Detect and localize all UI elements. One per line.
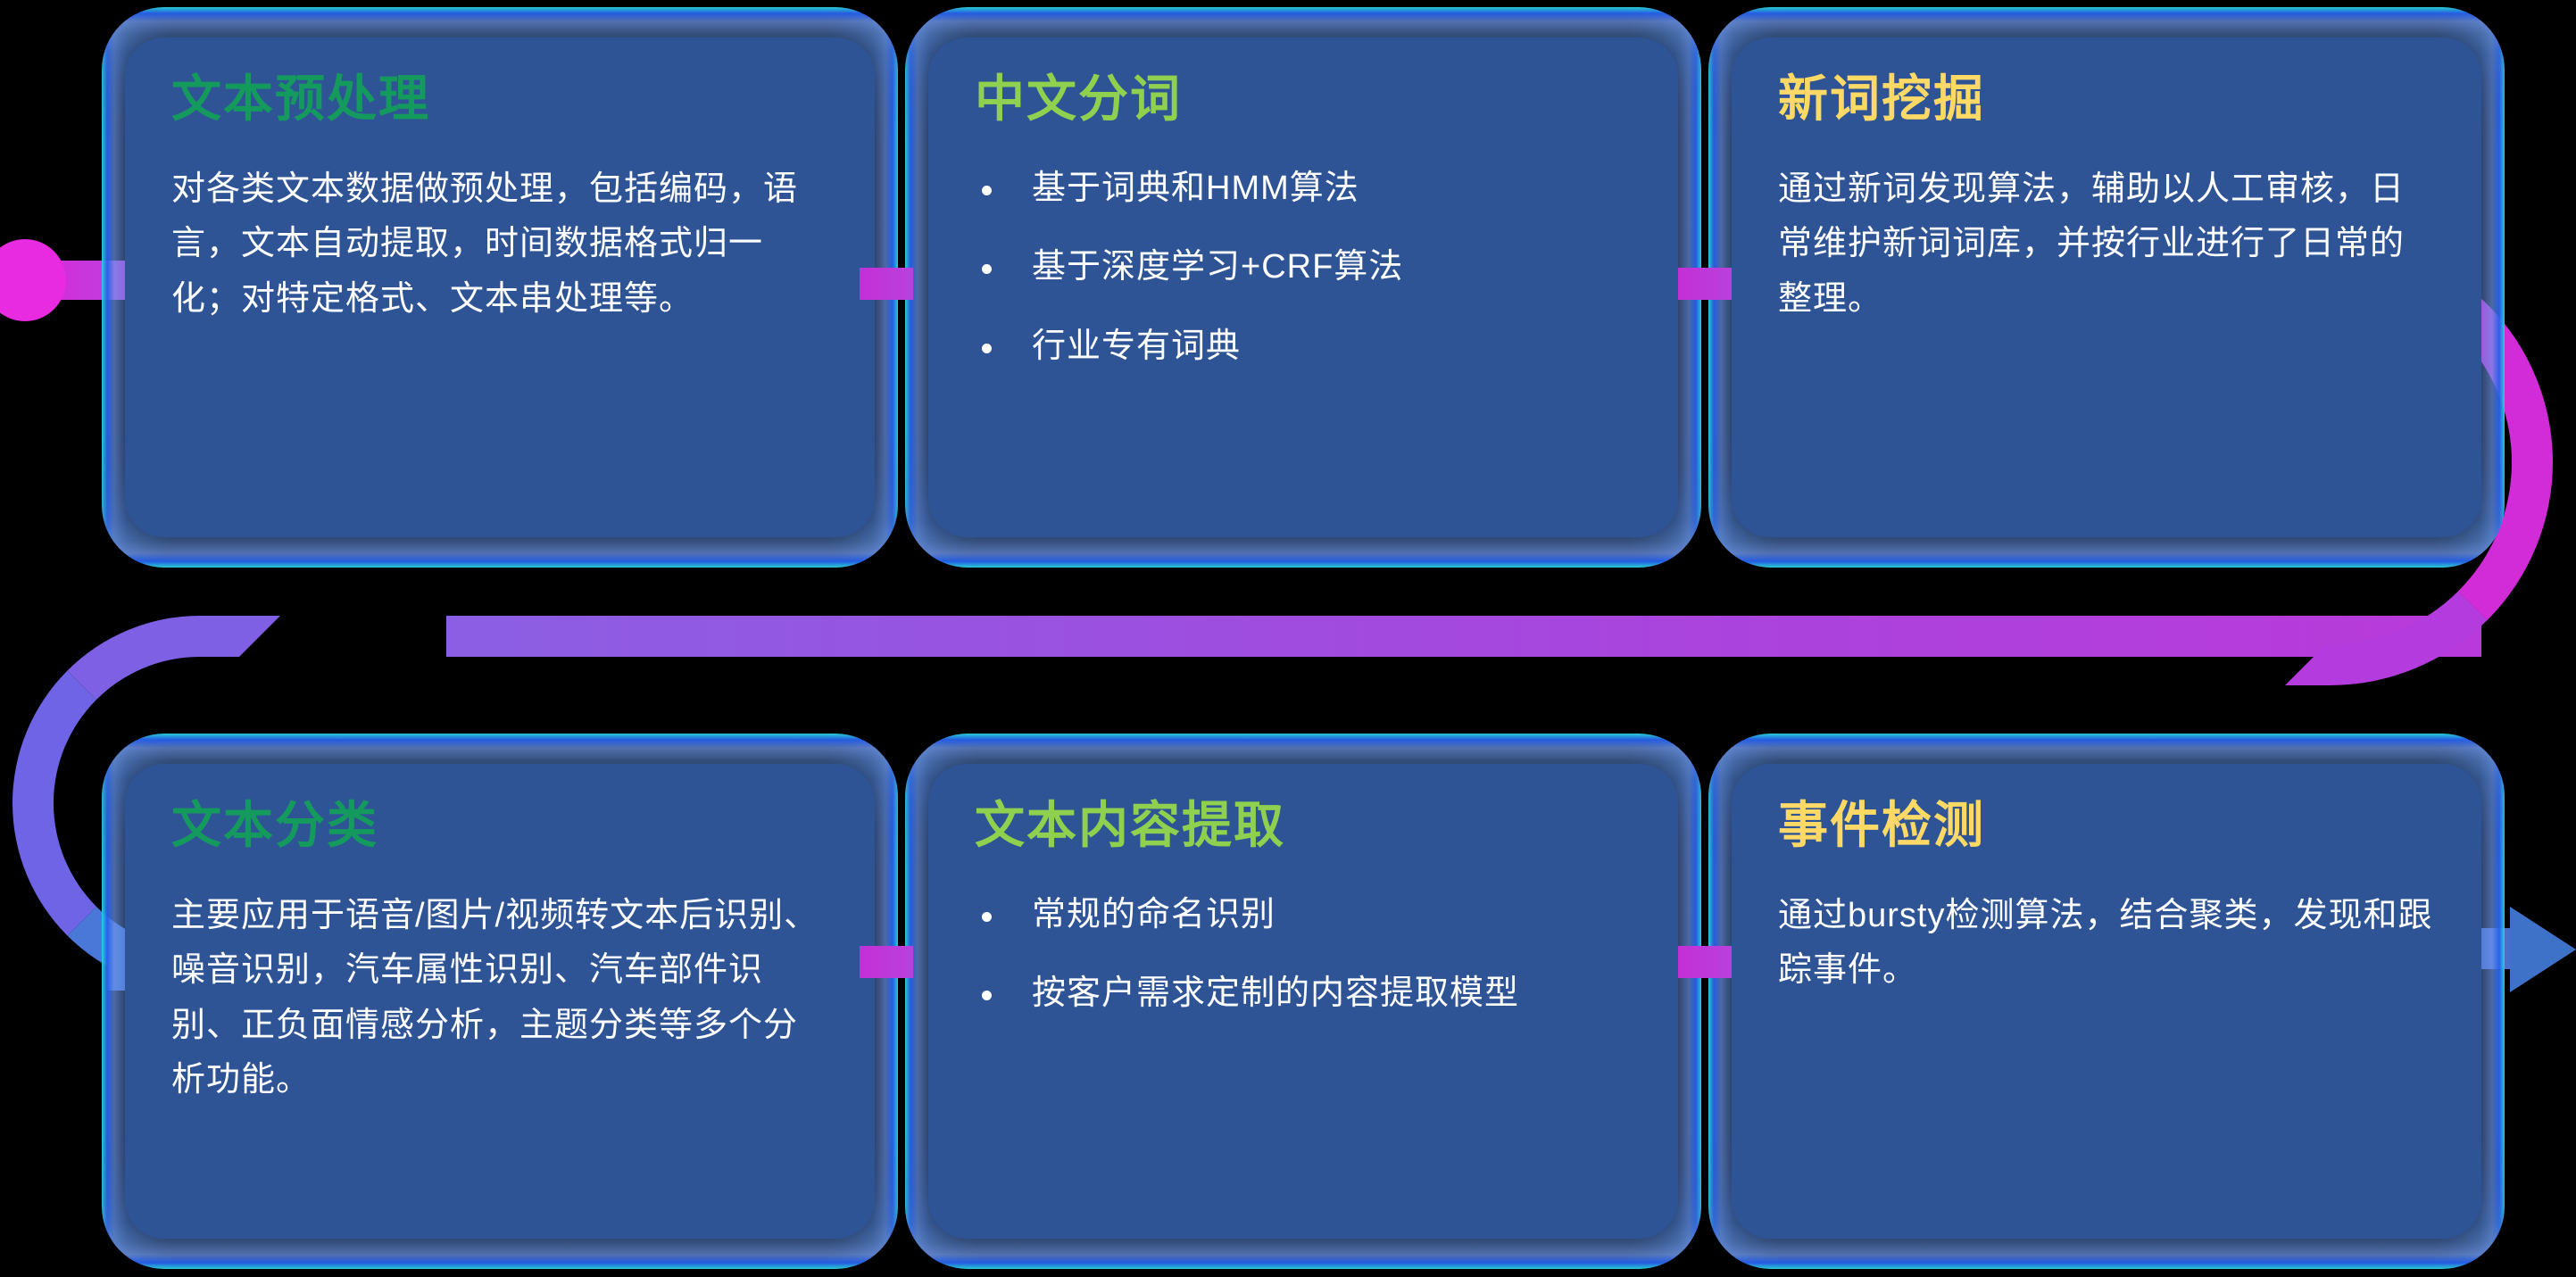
list-item: 基于深度学习+CRF算法 [975, 241, 1632, 294]
bottom-row: 文本分类 主要应用于语音/图片/视频转文本后识别、噪音识别，汽车属性识别、汽车部… [98, 734, 2508, 1269]
card-text-preprocessing[interactable]: 文本预处理 对各类文本数据做预处理，包括编码，语言，文本自动提取，时间数据格式归… [102, 7, 898, 568]
card-link-nub-bottom-1 [860, 946, 913, 978]
card-text-content-extraction[interactable]: 文本内容提取 常规的命名识别 按客户需求定制的内容提取模型 [905, 734, 1701, 1269]
card-title: 中文分词 [975, 71, 1632, 127]
card-inner: 文本内容提取 常规的命名识别 按客户需求定制的内容提取模型 [928, 764, 1678, 1239]
card-inner: 中文分词 基于词典和HMM算法 基于深度学习+CRF算法 行业专有词典 [928, 37, 1678, 537]
card-text-classification[interactable]: 文本分类 主要应用于语音/图片/视频转文本后识别、噪音识别，汽车属性识别、汽车部… [102, 734, 898, 1269]
card-new-word-discovery[interactable]: 新词挖掘 通过新词发现算法，辅助以人工审核，日常维护新词词库，并按行业进行了日常… [1708, 7, 2505, 568]
card-body: 主要应用于语音/图片/视频转文本后识别、噪音识别，汽车属性识别、汽车部件识别、正… [171, 889, 828, 1108]
card-event-detection[interactable]: 事件检测 通过bursty检测算法，结合聚类，发现和跟踪事件。 [1708, 734, 2505, 1269]
diagram-canvas: 文本预处理 对各类文本数据做预处理，包括编码，语言，文本自动提取，时间数据格式归… [0, 0, 2576, 1277]
card-title: 新词挖掘 [1778, 71, 2435, 127]
list-item: 常规的命名识别 [975, 889, 1632, 941]
card-title: 文本分类 [171, 798, 828, 853]
card-link-nub-top-2 [1678, 268, 1732, 300]
card-body: 对各类文本数据做预处理，包括编码，语言，文本自动提取，时间数据格式归一化；对特定… [171, 162, 828, 328]
card-inner: 文本分类 主要应用于语音/图片/视频转文本后识别、噪音识别，汽车属性识别、汽车部… [125, 764, 875, 1239]
card-inner: 事件检测 通过bursty检测算法，结合聚类，发现和跟踪事件。 [1732, 764, 2481, 1239]
card-inner: 文本预处理 对各类文本数据做预处理，包括编码，语言，文本自动提取，时间数据格式归… [125, 37, 875, 537]
card-link-nub-bottom-2 [1678, 946, 1732, 978]
row-link-bar [446, 616, 2481, 657]
card-body: 通过bursty检测算法，结合聚类，发现和跟踪事件。 [1778, 889, 2435, 999]
start-node-dot [0, 239, 66, 321]
end-arrow-icon [2510, 907, 2576, 992]
list-item: 行业专有词典 [975, 320, 1632, 373]
list-item: 基于词典和HMM算法 [975, 162, 1632, 215]
card-bullet-list: 基于词典和HMM算法 基于深度学习+CRF算法 行业专有词典 [975, 162, 1632, 374]
list-item: 按客户需求定制的内容提取模型 [975, 967, 1632, 1020]
card-title: 文本预处理 [171, 71, 828, 127]
card-bullet-list: 常规的命名识别 按客户需求定制的内容提取模型 [975, 889, 1632, 1021]
top-row: 文本预处理 对各类文本数据做预处理，包括编码，语言，文本自动提取，时间数据格式归… [98, 7, 2508, 568]
card-body: 通过新词发现算法，辅助以人工审核，日常维护新词词库，并按行业进行了日常的整理。 [1778, 162, 2435, 328]
card-inner: 新词挖掘 通过新词发现算法，辅助以人工审核，日常维护新词词库，并按行业进行了日常… [1732, 37, 2481, 537]
card-link-nub-top-1 [860, 268, 913, 300]
card-chinese-word-segmentation[interactable]: 中文分词 基于词典和HMM算法 基于深度学习+CRF算法 行业专有词典 [905, 7, 1701, 568]
card-title: 文本内容提取 [975, 798, 1632, 853]
card-title: 事件检测 [1778, 798, 2435, 853]
